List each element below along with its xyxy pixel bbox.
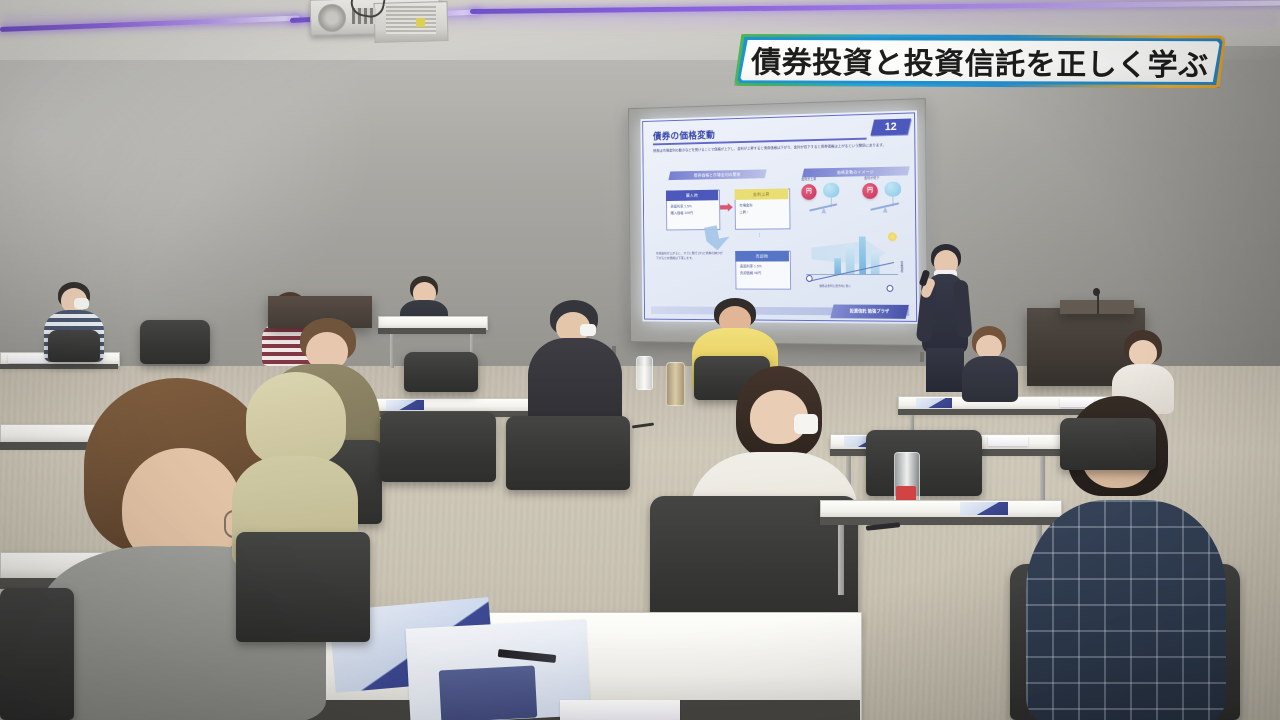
handout	[960, 502, 1008, 515]
projector-indicator	[416, 18, 425, 27]
chair	[404, 352, 478, 392]
broadcast-frame: 債券の価格変動 12 債券は市場金利の動きなどを受けることで価格が上下し、金利が…	[0, 0, 1280, 720]
slide-bar-chart: 債券価格 価格は金利と逆方向に動く	[802, 228, 906, 288]
attendee	[960, 326, 1020, 400]
brochure-photo	[439, 666, 538, 720]
slide-page-badge: 12	[870, 118, 911, 135]
slide-title: 債券の価格変動	[653, 127, 715, 142]
microphone-icon	[1093, 288, 1100, 296]
slide-box-sale-rows: 表面利率 1.5%売却価格 96円	[740, 263, 762, 276]
presentation-slide: 債券の価格変動 12 債券は市場金利の動きなどを受けることで価格が上下し、金利が…	[640, 110, 919, 324]
chair	[48, 330, 100, 362]
tumbler	[666, 362, 685, 406]
chair	[0, 588, 74, 720]
slide-note: 市場金利が上がると、すでに発行された債券の魅力が下がるため価格は下落します。	[656, 251, 724, 261]
headline-text: 債券投資と投資信託を正しく学ぶ	[734, 32, 1226, 89]
table-leg	[390, 334, 394, 368]
chair	[1060, 418, 1156, 470]
slide-caption-rate-up: 金利が上昇	[801, 176, 816, 181]
table-leg	[838, 525, 844, 595]
chair	[380, 412, 496, 482]
face-mask	[794, 414, 818, 434]
slide-ellipsis: ⋮	[757, 232, 763, 238]
slide-box-purchase-head: 購入時	[666, 190, 718, 201]
handout	[916, 398, 952, 408]
handout	[560, 700, 680, 720]
projector-lens	[318, 4, 346, 32]
handout	[988, 436, 1028, 446]
slide-box-sale-head: 売却時	[735, 251, 789, 262]
slide-balloon-icon	[823, 183, 839, 198]
slide-seesaw-icon	[809, 203, 838, 213]
attendee	[528, 300, 624, 430]
table-edge	[820, 517, 1060, 525]
chair	[140, 320, 210, 364]
handout	[8, 354, 48, 363]
chair	[866, 430, 982, 496]
slide-box-rate-rows: 市場金利上昇 ↑	[739, 203, 752, 216]
water-bottle	[636, 356, 653, 390]
projector-vent	[386, 6, 436, 34]
chair	[506, 416, 630, 490]
table-edge	[0, 364, 118, 369]
handout	[386, 400, 424, 410]
chair	[236, 532, 370, 642]
slide-box-rate-head: 金利上昇	[735, 188, 789, 200]
slide-chart-vlabel: 債券価格	[900, 261, 904, 272]
slide-footer-logo: 投資信託 勉強プラザ	[830, 304, 909, 318]
slide-box-purchase-rows: 表面利率 1.5%購入価格 100円	[671, 203, 694, 216]
slide-caption-rate-down: 金利が低下	[864, 175, 879, 180]
face-mask	[580, 324, 596, 336]
title-banner: 債券投資と投資信託を正しく学ぶ	[734, 34, 1226, 88]
slide-chart-caption: 価格は金利と逆方向に動く	[819, 284, 851, 288]
slide-sun-icon	[888, 232, 897, 241]
slide-seesaw-icon	[870, 202, 899, 212]
face-mask	[74, 298, 89, 309]
slide-balloon-icon	[884, 181, 901, 196]
